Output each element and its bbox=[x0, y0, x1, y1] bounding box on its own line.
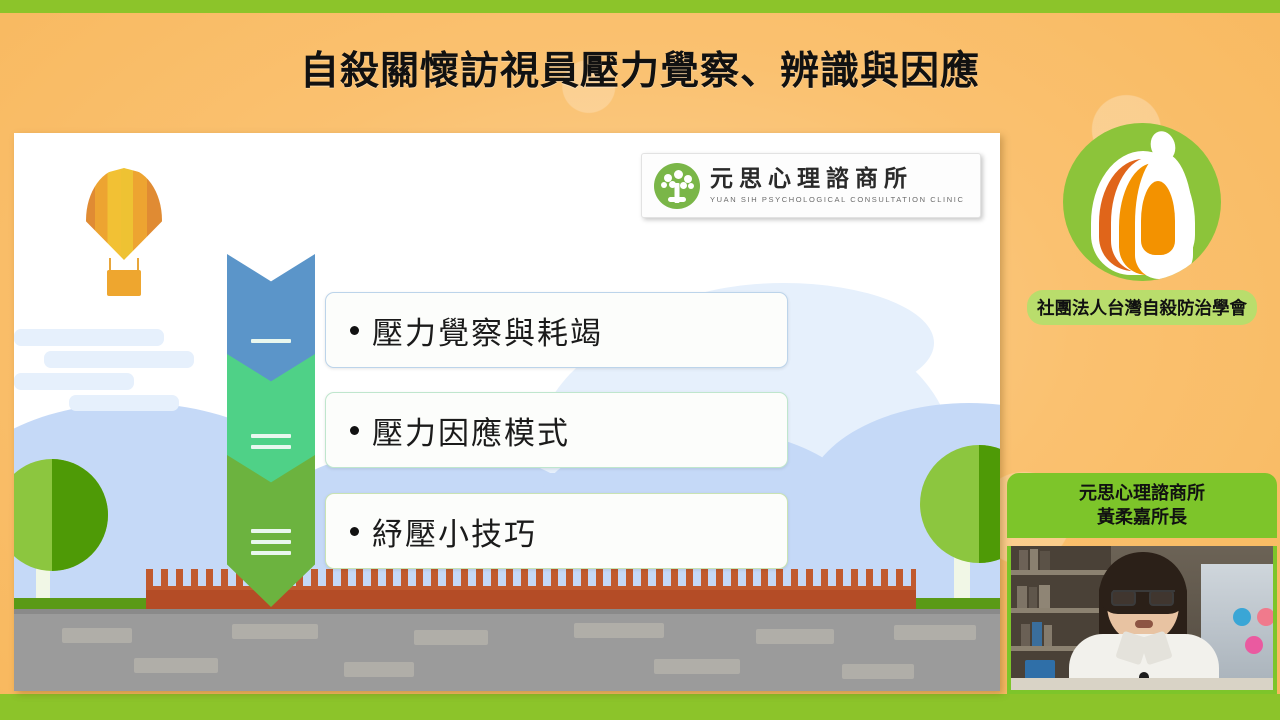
stone-wall bbox=[14, 609, 1000, 691]
balloon-envelope bbox=[86, 168, 162, 260]
clinic-name-cn: 元思心理諮商所 bbox=[710, 167, 964, 192]
bullet-dot-icon bbox=[350, 527, 359, 536]
agenda-label-1: 壓力覺察與耗竭 bbox=[372, 308, 603, 353]
cloud-streak-2 bbox=[44, 351, 194, 368]
association-logo-icon bbox=[1063, 123, 1221, 281]
sidebar: 社團法人台灣自殺防治學會 元思心理諮商所 黃柔嘉所長 bbox=[1004, 13, 1280, 694]
speaker-name-title: 黃柔嘉所長 bbox=[1011, 506, 1273, 530]
association-name: 社團法人台灣自殺防治學會 bbox=[1027, 290, 1257, 325]
clinic-logo-card: 元思心理諮商所 YUAN SIH PSYCHOLOGICAL CONSULTAT… bbox=[641, 153, 981, 218]
cloud-streak-3 bbox=[14, 373, 134, 390]
cloud-streak-4 bbox=[69, 395, 179, 411]
tree-shadow-right bbox=[979, 445, 1000, 563]
top-accent-bar bbox=[0, 0, 1280, 13]
bottom-accent-bar bbox=[0, 694, 1280, 720]
agenda-card-3[interactable]: 紓壓小技巧 bbox=[325, 493, 788, 569]
agenda-label-3: 紓壓小技巧 bbox=[372, 509, 537, 554]
speaker-organization: 元思心理諮商所 bbox=[1011, 482, 1273, 506]
tree-in-circle-icon bbox=[654, 163, 700, 209]
agenda-label-2: 壓力因應模式 bbox=[372, 408, 570, 453]
slide-canvas: 元思心理諮商所 YUAN SIH PSYCHOLOGICAL CONSULTAT… bbox=[14, 133, 1000, 691]
clinic-name-en: YUAN SIH PSYCHOLOGICAL CONSULTATION CLIN… bbox=[710, 195, 964, 204]
bullet-dot-icon bbox=[350, 326, 359, 335]
agenda-row-3: 紓壓小技巧 bbox=[227, 455, 788, 607]
bullet-dot-icon bbox=[350, 426, 359, 435]
speaker-video-feed[interactable] bbox=[1007, 546, 1277, 694]
speaker-nameplate: 元思心理諮商所 黃柔嘉所長 bbox=[1007, 473, 1277, 538]
balloon-basket bbox=[107, 270, 141, 296]
hot-air-balloon-icon bbox=[86, 168, 162, 260]
chevron-marker-3 bbox=[227, 455, 315, 607]
cloud-streak-1 bbox=[14, 329, 164, 346]
